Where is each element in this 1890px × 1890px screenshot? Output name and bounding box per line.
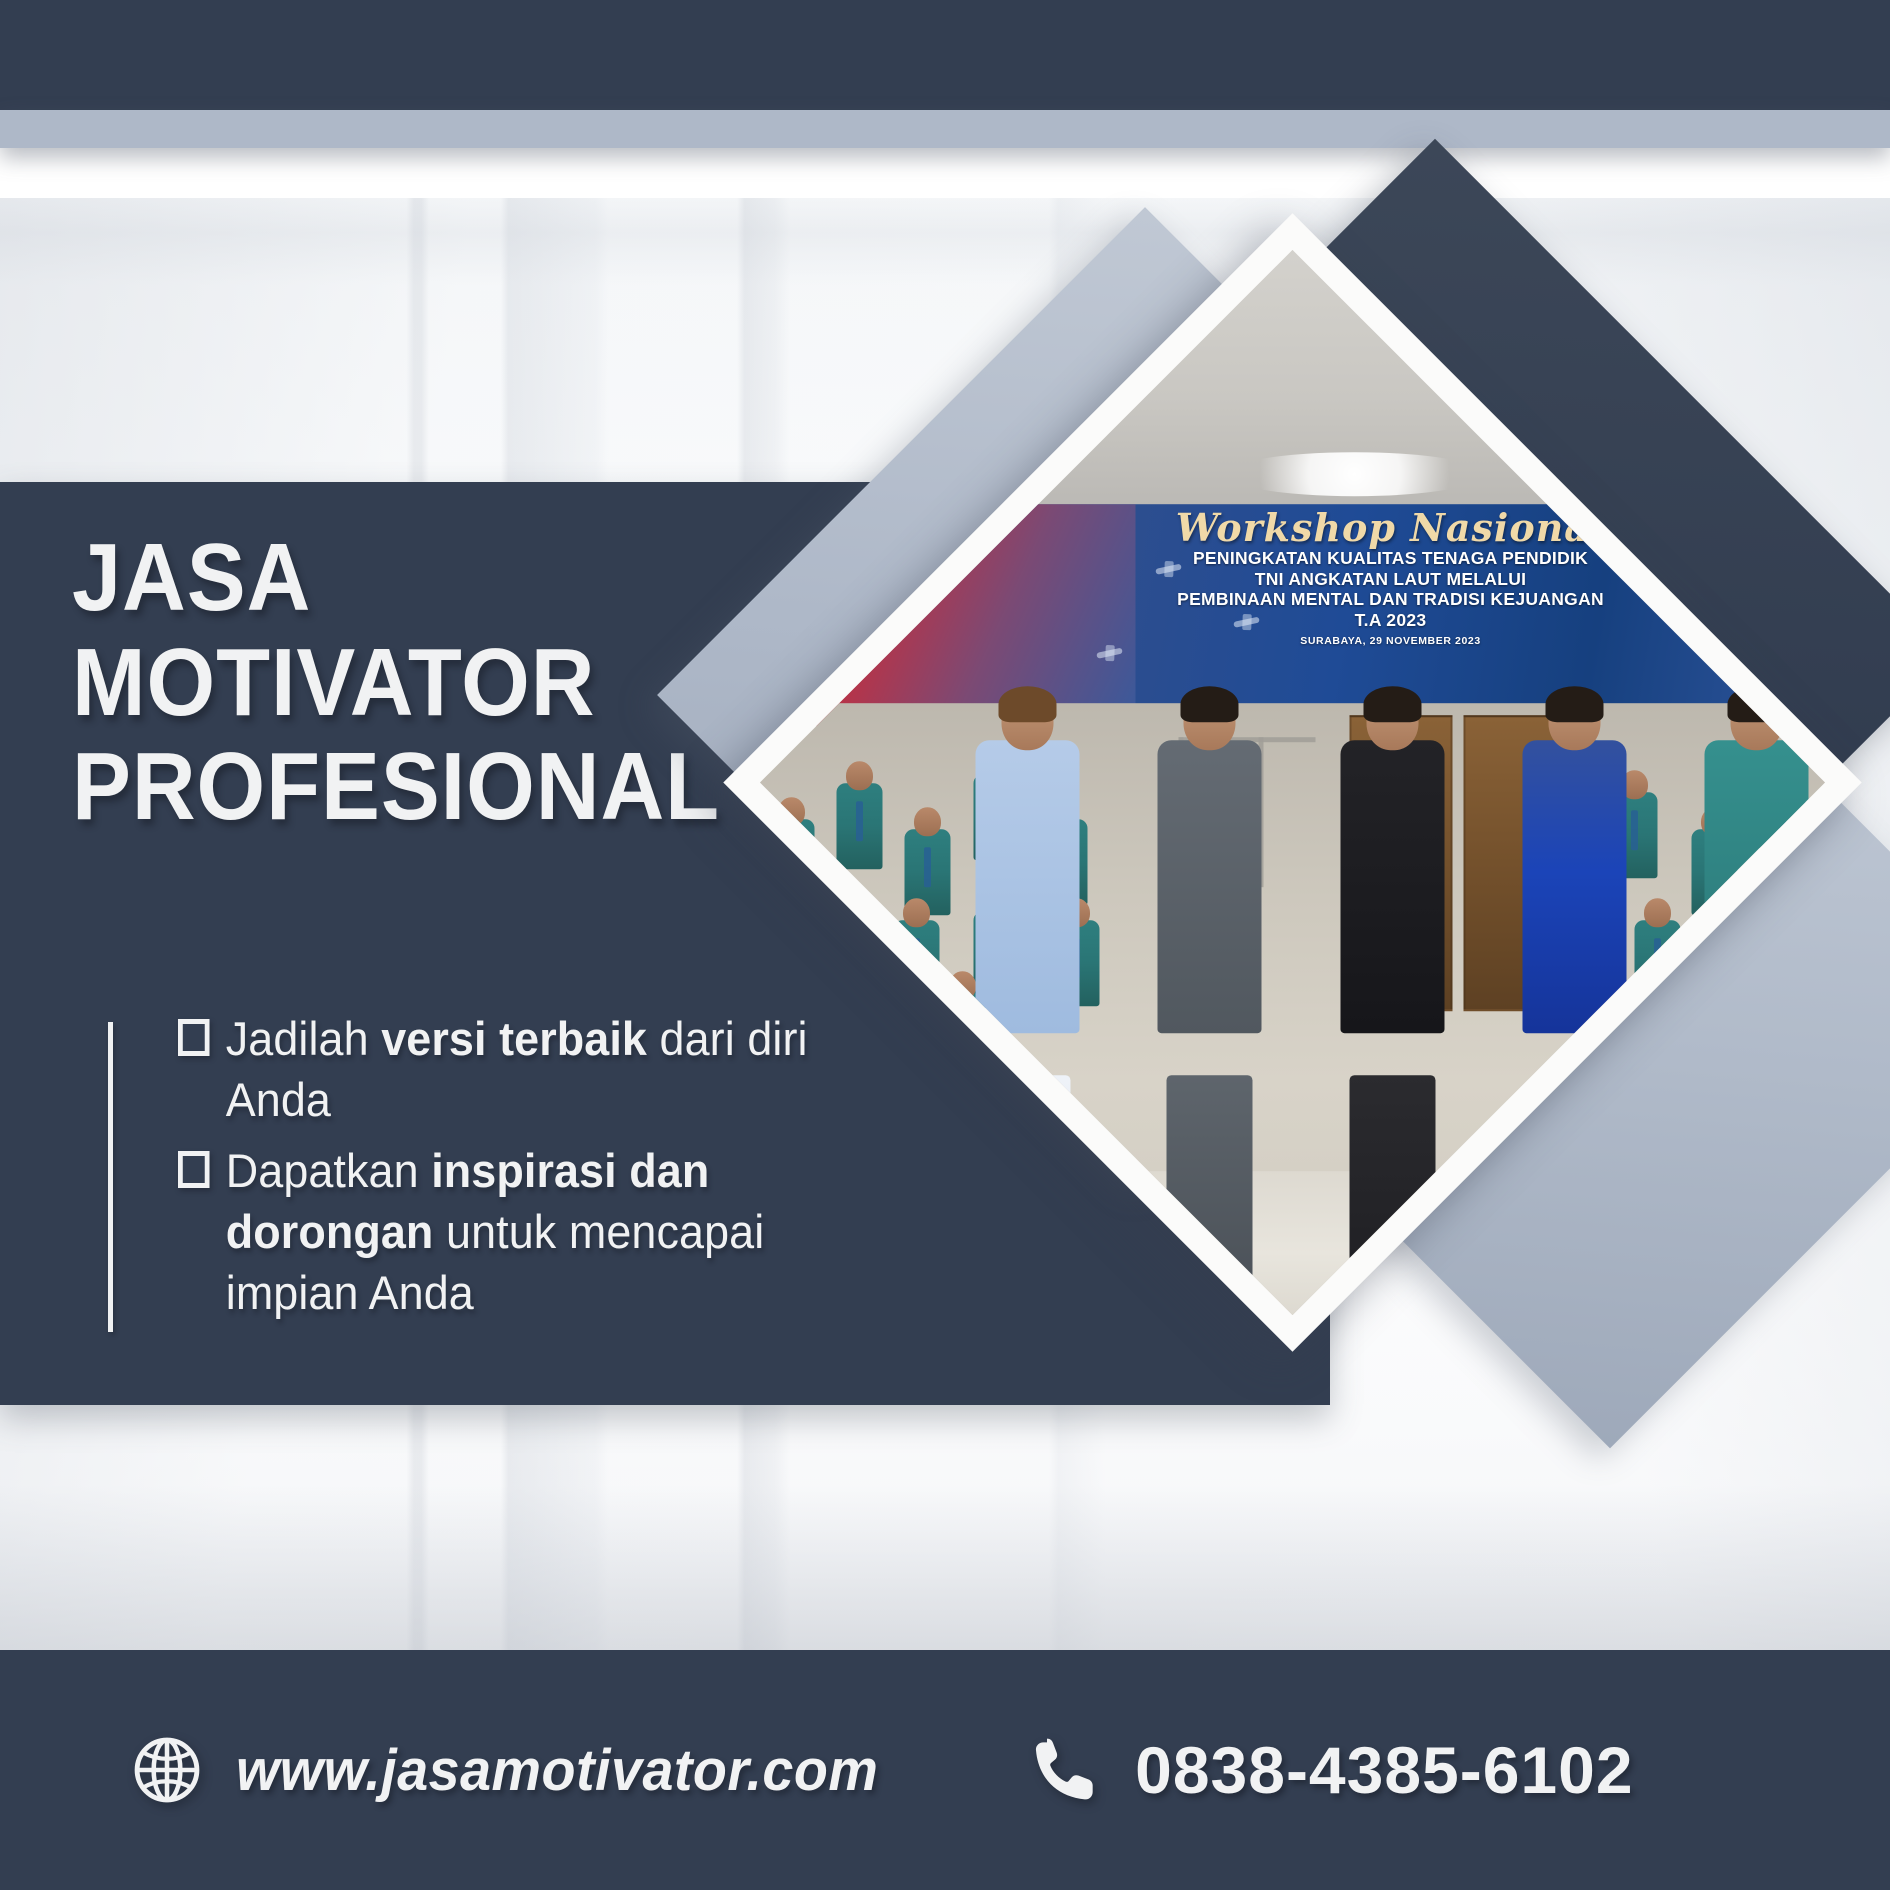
phone-label: 0838-4385-6102: [1135, 1732, 1633, 1808]
person-hair: [1181, 685, 1239, 721]
checkbox-outline-icon: [178, 1151, 210, 1188]
website-label: www.jasamotivator.com: [236, 1737, 878, 1804]
list-item-label: Dapatkan inspirasi dan dorongan untuk me…: [226, 1140, 904, 1323]
poster-canvas: Workshop Nasional PENINGKATAN KUALITAS T…: [0, 0, 1890, 1890]
person-torso: [1158, 739, 1262, 1033]
banner-line-2: TNI ANGKATAN LAUT MELALUI: [1018, 568, 1763, 589]
officer-figure: [837, 782, 883, 868]
person-hair: [998, 685, 1056, 721]
banner-location-date: SURABAYA, 29 NOVEMBER 2023: [1018, 634, 1763, 646]
list-item: Dapatkan inspirasi dan dorongan untuk me…: [178, 1140, 904, 1323]
person-legs: [1167, 1074, 1253, 1315]
background-white-band: [0, 148, 1890, 198]
front-row-person: [973, 691, 1081, 1315]
banner-line-4: T.A 2023: [1018, 609, 1763, 630]
person-torso: [1340, 739, 1444, 1033]
top-bar-steel: [0, 110, 1890, 148]
bullet-1-part-b: versi terbaik: [381, 1012, 647, 1065]
person-torso: [975, 739, 1079, 1033]
phone-icon: [1025, 1730, 1105, 1810]
person-legs: [1349, 1074, 1435, 1315]
person-legs: [984, 1074, 1070, 1315]
officer-figure: [939, 992, 985, 1078]
phone-link[interactable]: 0838-4385-6102: [1025, 1730, 1633, 1810]
person-hair: [1363, 685, 1421, 721]
globe-icon: [128, 1731, 206, 1809]
bullet-accent-rule: [108, 1022, 113, 1332]
officer-figure: [768, 819, 814, 905]
person-hair: [1546, 685, 1604, 721]
benefit-list: Jadilah versi terbaik dari diri Anda Dap…: [178, 1008, 938, 1333]
website-link[interactable]: www.jasamotivator.com: [128, 1731, 905, 1809]
checkbox-outline-icon: [178, 1019, 210, 1056]
top-bar-dark: [0, 0, 1890, 110]
list-item: Jadilah versi terbaik dari diri Anda: [178, 1008, 904, 1130]
bullet-1-part-a: Jadilah: [226, 1012, 381, 1065]
list-item-label: Jadilah versi terbaik dari diri Anda: [226, 1008, 904, 1130]
bullet-2-part-a: Dapatkan: [226, 1144, 431, 1197]
officer-figure: [894, 919, 940, 1005]
front-row-person: [1156, 691, 1264, 1315]
officer-figure: [814, 910, 860, 996]
person-torso: [1523, 739, 1627, 1033]
ceiling-light-strip-icon: [1224, 452, 1484, 496]
banner-line-3: PEMBINAAN MENTAL DAN TRADISI KEJUANGAN: [1018, 589, 1763, 610]
footer-contact-bar: www.jasamotivator.com 0838-4385-6102: [0, 1650, 1890, 1890]
